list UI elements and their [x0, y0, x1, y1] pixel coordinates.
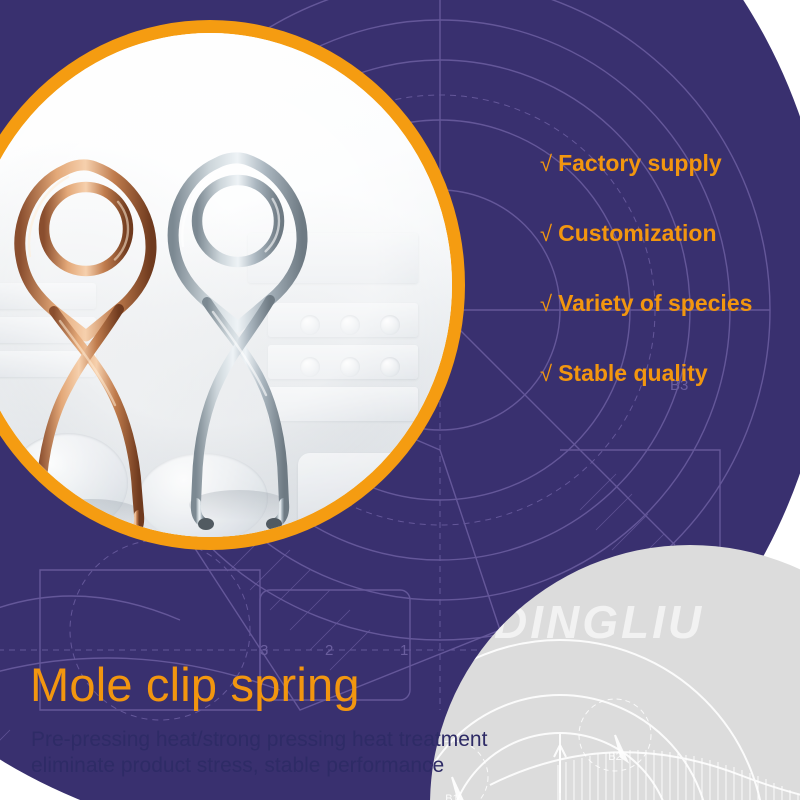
steel-mole-clip-spring	[173, 158, 302, 523]
feature-label: Variety of species	[558, 290, 752, 316]
blueprint-label-b1: B1	[445, 793, 458, 800]
brand-watermark: DINGLIU	[494, 595, 704, 649]
product-photo-circle	[0, 20, 465, 550]
feature-label: Stable quality	[558, 360, 708, 386]
svg-text:1: 1	[400, 642, 408, 659]
check-icon: √	[540, 361, 552, 386]
product-title: Mole clip spring	[30, 657, 360, 712]
feature-item-factory-supply: √Factory supply	[540, 152, 790, 175]
product-banner: 1 2 3 4 B3	[0, 0, 800, 800]
copper-mole-clip-spring	[20, 165, 151, 535]
check-icon: √	[540, 221, 552, 246]
check-icon: √	[540, 151, 552, 176]
feature-item-customization: √Customization	[540, 222, 790, 245]
mole-clip-springs	[0, 53, 433, 550]
blueprint-label-b2: B2	[608, 751, 621, 763]
product-subtitle: Pre-pressing heat/strong pressing heat t…	[31, 727, 487, 779]
check-icon: √	[540, 291, 552, 316]
feature-label: Customization	[558, 220, 716, 246]
feature-item-variety-of-species: √Variety of species	[540, 292, 790, 315]
feature-item-stable-quality: √Stable quality	[540, 362, 790, 385]
feature-list: √Factory supply √Customization √Variety …	[540, 152, 790, 432]
feature-label: Factory supply	[558, 150, 722, 176]
